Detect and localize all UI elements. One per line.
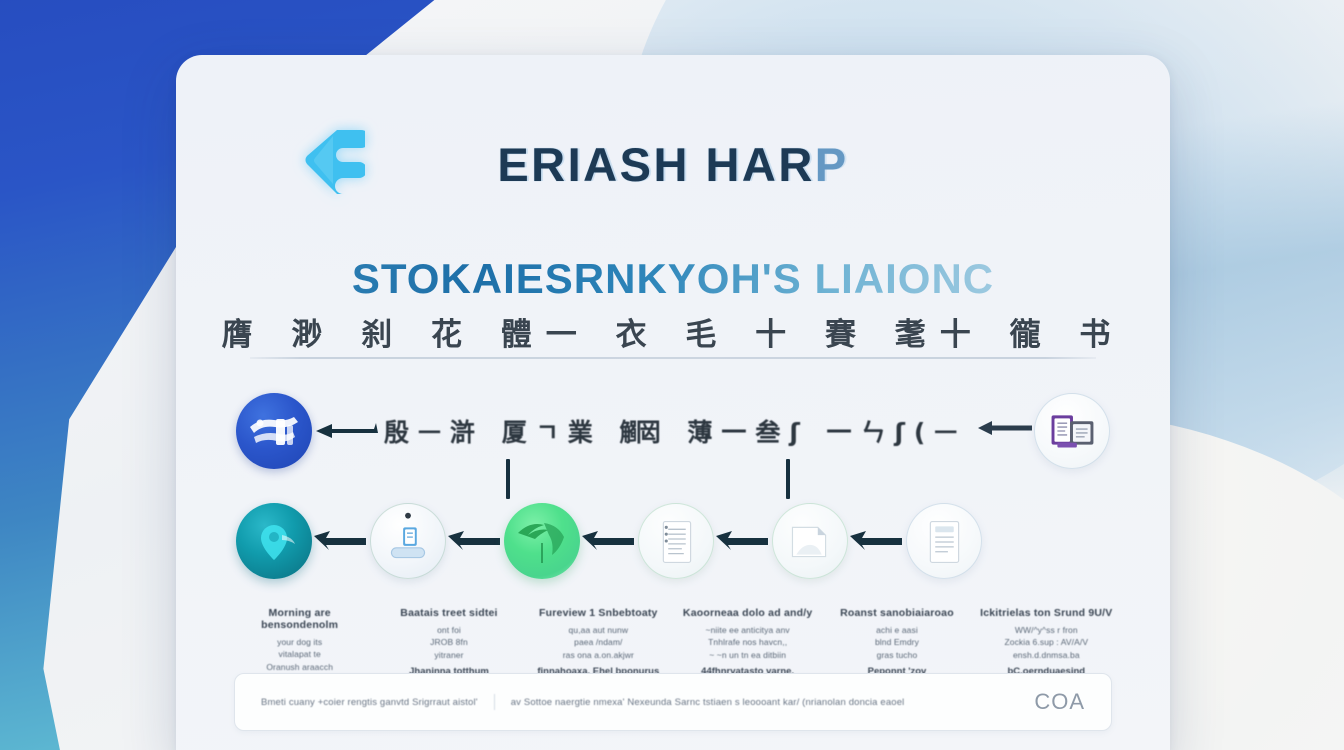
caption-line: vitalapat te xyxy=(230,648,369,660)
folded-page-icon xyxy=(772,503,848,579)
caption-line: ~ ~n un tn ea ditbiin xyxy=(678,649,817,661)
screenshot-stage: ERIASH HARP STOKAIESRNKYOH'S LIAIONC 膺 渺… xyxy=(0,0,1344,750)
card-header: ERIASH HARP xyxy=(176,115,1170,225)
flow-label-left: 殷ᅳ滸 厦ㄱ業 觸一 xyxy=(384,413,636,449)
caption-line: paea /ndam/ xyxy=(529,636,668,648)
flow-node-start[interactable] xyxy=(236,393,312,469)
caption-title: Roanst sanobiaiaroao xyxy=(827,607,966,619)
caption-line: JROB 8fn xyxy=(379,636,518,648)
footer-bar: Bmeti cuany +coier rengtis ganvtd Srigrr… xyxy=(234,673,1112,731)
caption-line: Oranush araacch xyxy=(230,661,369,673)
caption-line: ~niite ee anticitya anv xyxy=(678,624,817,636)
flow-row-2 xyxy=(176,491,1170,591)
arrow-left-icon xyxy=(714,528,772,554)
subtitle-secondary: 膺 渺 刹 花 體一 衣 毛 十 賽 耄十 徿 书 xyxy=(176,309,1170,354)
green-leaf-data-icon xyxy=(504,503,580,579)
caption-line: Tnhlrafe nos havcn,, xyxy=(678,636,817,648)
footer-badge: COA xyxy=(1034,689,1085,715)
caption-title: Ickitrielas ton Srund 9U/V xyxy=(977,607,1116,619)
arrow-left-icon xyxy=(580,528,638,554)
main-card: ERIASH HARP STOKAIESRNKYOH'S LIAIONC 膺 渺… xyxy=(176,55,1170,750)
caption-title: Fureview 1 Snbebtoaty xyxy=(529,607,668,619)
flow-node-form[interactable] xyxy=(370,503,446,579)
caption-line: yitraner xyxy=(379,649,518,661)
flow-node-report[interactable] xyxy=(906,503,982,579)
flow-node-page[interactable] xyxy=(772,503,848,579)
footer-text-right: av Sottoe naergtie nmexa' Nexeunda Sarnc… xyxy=(511,697,905,708)
flow-node-green[interactable] xyxy=(504,503,580,579)
caption-line: your dog its xyxy=(230,636,369,648)
caption-line: qu,aa aut nunw xyxy=(529,624,668,636)
document-window-stack-icon xyxy=(1034,393,1110,469)
header-divider xyxy=(250,357,1096,359)
arrow-left-icon xyxy=(312,418,384,444)
page-title: ERIASH HARP xyxy=(176,137,1170,192)
blue-form-card-icon xyxy=(370,503,446,579)
page-title-tail: P xyxy=(815,138,849,191)
footer-divider xyxy=(494,694,495,710)
arrow-left-icon xyxy=(312,528,370,554)
teal-location-pin-icon xyxy=(236,503,312,579)
flow-node-checklist[interactable] xyxy=(638,503,714,579)
arrow-left-icon xyxy=(976,418,1034,444)
page-title-main: ERIASH HAR xyxy=(497,138,814,191)
caption-line: ont foi xyxy=(379,624,518,636)
caption-line: blnd Emdry xyxy=(827,636,966,648)
report-lines-icon xyxy=(906,503,982,579)
blue-globe-network-icon xyxy=(236,393,312,469)
flow-node-end[interactable] xyxy=(1034,393,1110,469)
arrow-left-icon xyxy=(446,528,504,554)
caption-line: achi e aasi xyxy=(827,624,966,636)
flow-diagram: 殷ᅳ滸 厦ㄱ業 觸一 㒺 薄一叁ʃ 一ㄣʃ(ᅳ ←ᅳ xyxy=(176,377,1170,591)
caption-line: Zockia 6.sup : AV/A/V xyxy=(977,636,1116,648)
caption-title: Kaoorneaa dolo ad and/y xyxy=(678,607,817,619)
footer-text-group: Bmeti cuany +coier rengtis ganvtd Srigrr… xyxy=(261,694,1034,710)
flow-label-right: 㒺 薄一叁ʃ 一ㄣʃ(ᅳ ←ᅳ xyxy=(636,413,976,449)
caption-line: WW/^y^ss r fron xyxy=(977,624,1116,636)
caption-title: Baatais treet sidtei xyxy=(379,607,518,619)
flow-node-teal[interactable] xyxy=(236,503,312,579)
caption-line: ras ona a.on.akjwr xyxy=(529,649,668,661)
caption-line: ensh.d.dnmsa.ba xyxy=(977,649,1116,661)
subtitle-block: STOKAIESRNKYOH'S LIAIONC 膺 渺 刹 花 體一 衣 毛 … xyxy=(176,255,1170,354)
subtitle-primary: STOKAIESRNKYOH'S LIAIONC xyxy=(176,255,1170,303)
caption-title: Morning are bensondenolm xyxy=(230,607,369,631)
caption-line: gras tucho xyxy=(827,649,966,661)
checklist-document-icon xyxy=(638,503,714,579)
footer-text-left: Bmeti cuany +coier rengtis ganvtd Srigrr… xyxy=(261,697,478,708)
flow-row-1: 殷ᅳ滸 厦ㄱ業 觸一 㒺 薄一叁ʃ 一ㄣʃ(ᅳ ←ᅳ xyxy=(176,381,1170,481)
arrow-left-icon xyxy=(848,528,906,554)
